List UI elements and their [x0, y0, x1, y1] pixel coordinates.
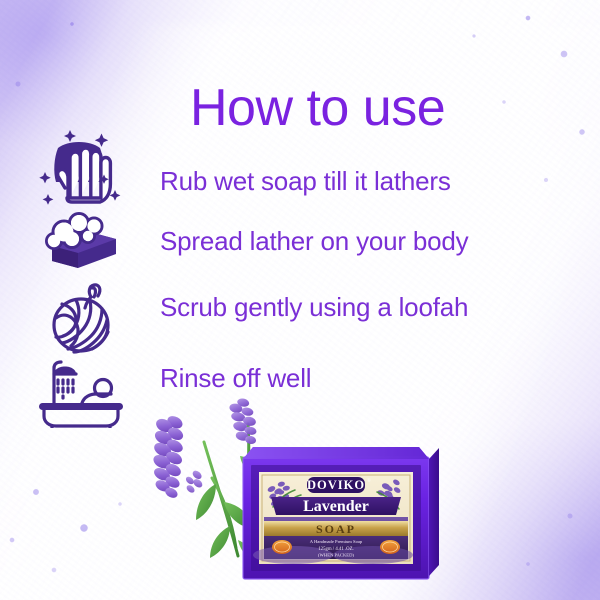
poster-canvas: How to use Rub wet soap till it lathers … — [0, 0, 600, 600]
step-label-2: Spread lather on your body — [160, 228, 468, 254]
product-weight-note: (WHEN PACKED) — [318, 553, 354, 558]
soap-box: DOVIKO ® Lavender SOAP A Handmade Premiu… — [233, 443, 439, 583]
quality-seal-icon-right — [380, 540, 400, 554]
product-variant: Lavender — [303, 498, 369, 515]
brand-trademark: ® — [367, 478, 371, 484]
product-type: SOAP — [316, 522, 356, 536]
product-tagline: A Handmade Premium Soap — [310, 539, 363, 544]
step-label-4: Rinse off well — [160, 365, 311, 391]
page-title: How to use — [190, 82, 530, 134]
soap-bar-lather-icon — [44, 212, 120, 274]
loofah-icon — [50, 282, 116, 354]
quality-seal-icon-left — [272, 540, 292, 554]
bathtub-shower-icon — [32, 356, 130, 428]
step-label-3: Scrub gently using a loofah — [160, 294, 468, 320]
brand-name: DOVIKO — [307, 478, 365, 492]
step-label-1: Rub wet soap till it lathers — [160, 168, 451, 194]
washing-hand-icon — [38, 128, 124, 206]
product-net-weight: 125gm / 4.41 .OZ. — [318, 547, 353, 552]
